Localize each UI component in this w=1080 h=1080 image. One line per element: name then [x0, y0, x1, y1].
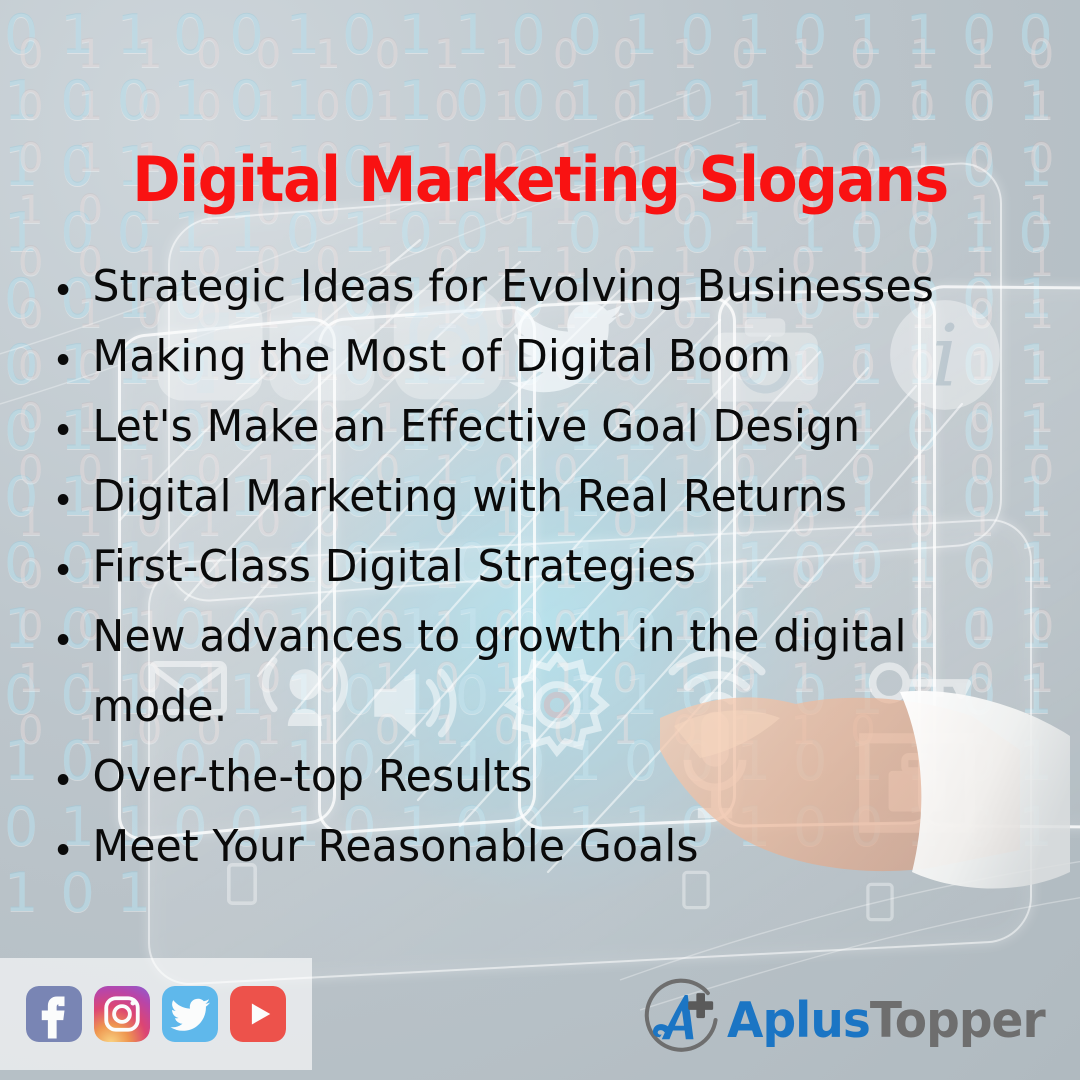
slogan-list: Strategic Ideas for Evolving Businesses …	[52, 252, 1012, 882]
brand-wordmark: AplusTopper	[727, 996, 1045, 1045]
list-item: Digital Marketing with Real Returns	[52, 462, 978, 532]
page-glyph-3	[862, 880, 898, 924]
brand-word-secondary: Topper	[870, 992, 1045, 1049]
social-links-bar	[0, 958, 312, 1070]
list-item: New advances to growth in the digital mo…	[52, 602, 978, 742]
list-item: First-Class Digital Strategies	[52, 532, 978, 602]
instagram-icon[interactable]	[94, 986, 150, 1042]
facebook-icon[interactable]	[26, 986, 82, 1042]
list-item: Making the Most of Digital Boom	[52, 322, 978, 392]
brand-logo[interactable]: AplusTopper	[633, 972, 1058, 1068]
list-item: Meet Your Reasonable Goals	[52, 812, 978, 882]
twitter-icon[interactable]	[162, 986, 218, 1042]
youtube-icon[interactable]	[230, 986, 286, 1042]
brand-word-primary: Aplus	[727, 992, 870, 1049]
list-item: Over-the-top Results	[52, 742, 978, 812]
slogan-poster: 0110010110010101100100101010011010010110…	[0, 0, 1080, 1080]
list-item: Let's Make an Effective Goal Design	[52, 392, 978, 462]
list-item: Strategic Ideas for Evolving Businesses	[52, 252, 978, 322]
aplustopper-mark-icon	[633, 972, 729, 1068]
page-title: Digital Marketing Slogans	[32, 147, 1047, 213]
